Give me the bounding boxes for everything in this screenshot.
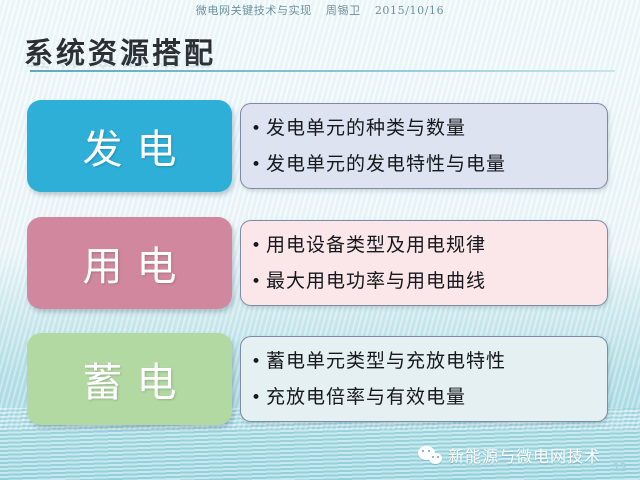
title-underline (30, 70, 615, 72)
resource-row: 用电 •用电设备类型及用电规律 •最大用电功率与用电曲线 (0, 217, 640, 309)
page-title-wrap: 系统资源搭配 系统资源搭配 (24, 36, 494, 88)
bullet-marker-icon: • (251, 119, 262, 139)
footer-text: 新能源与微电网技术 (448, 443, 601, 467)
resource-row: 发电 •发电单元的种类与数量 •发电单元的发电特性与电量 (0, 100, 640, 192)
bullet-marker-icon: • (251, 388, 262, 408)
header-author: 周锡卫 (326, 4, 361, 17)
resource-row: 蓄电 •蓄电单元类型与充放电特性 •充放电倍率与有效电量 (0, 333, 640, 425)
bullet-marker-icon: • (251, 236, 262, 256)
bullet-text: 充放电倍率与有效电量 (266, 386, 466, 408)
category-box-storage[interactable]: 蓄电 (27, 333, 232, 425)
category-label: 蓄电 (69, 350, 191, 408)
header-date: 2015/10/16 (375, 4, 444, 17)
bullet-text: 发电单元的发电特性与电量 (266, 153, 506, 175)
detail-panel-generation: •发电单元的种类与数量 •发电单元的发电特性与电量 (240, 103, 608, 189)
bullet-item: •最大用电功率与用电曲线 (251, 264, 607, 300)
category-box-consumption[interactable]: 用电 (27, 217, 232, 309)
bullet-marker-icon: • (251, 155, 262, 175)
category-box-generation[interactable]: 发电 (27, 100, 232, 192)
wechat-icon (418, 446, 442, 465)
page-title: 系统资源搭配 (24, 36, 494, 70)
category-label: 用电 (69, 234, 191, 292)
bullet-item: •蓄电单元类型与充放电特性 (251, 344, 607, 380)
bullet-item: •发电单元的发电特性与电量 (251, 147, 607, 183)
bullet-item: •发电单元的种类与数量 (251, 111, 607, 147)
detail-panel-storage: •蓄电单元类型与充放电特性 •充放电倍率与有效电量 (240, 336, 608, 422)
bullet-text: 用电设备类型及用电规律 (266, 234, 486, 256)
bullet-item: •充放电倍率与有效电量 (251, 380, 607, 416)
bullet-marker-icon: • (251, 352, 262, 372)
bullet-text: 最大用电功率与用电曲线 (266, 270, 486, 292)
bullet-marker-icon: • (251, 272, 262, 292)
header-course-title: 微电网关键技术与实现 (196, 4, 312, 17)
slide-canvas: 微电网关键技术与实现 周锡卫 2015/10/16 系统资源搭配 系统资源搭配 … (0, 0, 640, 480)
category-label: 发电 (69, 117, 191, 175)
footer-branding: 新能源与微电网技术 (418, 443, 601, 467)
bullet-text: 蓄电单元类型与充放电特性 (266, 350, 506, 372)
detail-panel-consumption: •用电设备类型及用电规律 •最大用电功率与用电曲线 (240, 220, 608, 306)
bullet-item: •用电设备类型及用电规律 (251, 228, 607, 264)
slide-header: 微电网关键技术与实现 周锡卫 2015/10/16 (0, 2, 640, 18)
page-number: 12 (613, 461, 627, 474)
bullet-text: 发电单元的种类与数量 (266, 117, 466, 139)
